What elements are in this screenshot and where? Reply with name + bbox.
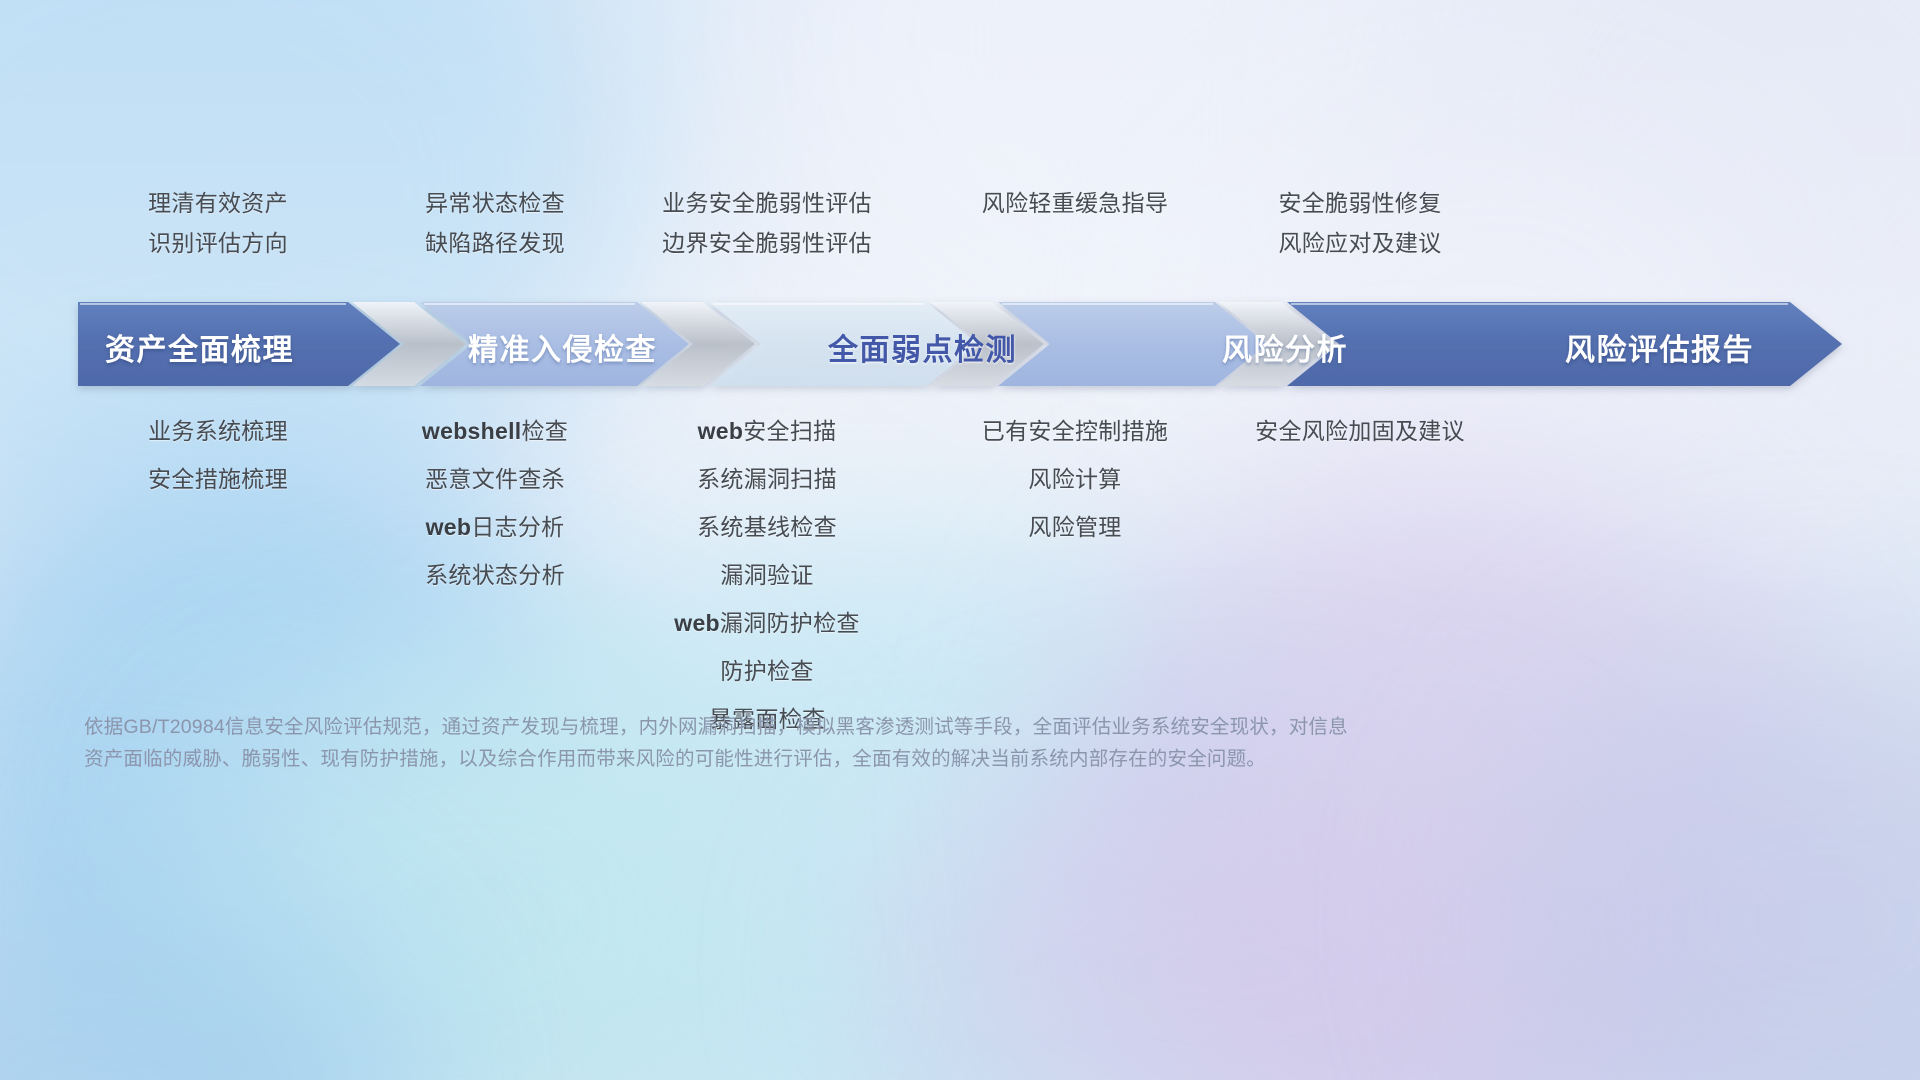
stage-2-bottom-item: 恶意文件查杀: [355, 468, 635, 491]
stage-3-bottom-list: web安全扫描 系统漏洞扫描 系统基线检查 漏洞验证 web漏洞防护检查 防护检…: [622, 420, 912, 731]
stage-3-top-item: 边界安全脆弱性评估: [622, 232, 912, 255]
diagram-stage-layer: 理清有效资产 识别评估方向 业务系统梳理 安全措施梳理 异常状态检查 缺陷路径发…: [0, 0, 1920, 1080]
stage-column-2: 异常状态检查 缺陷路径发现: [355, 192, 635, 255]
stage-1-bottom-item: 安全措施梳理: [78, 468, 358, 491]
stage-1-bottom-item: 业务系统梳理: [78, 420, 358, 443]
stage-5-bottom-list: 安全风险加固及建议: [1215, 420, 1505, 443]
stage-2-bottom-item-tail: 检查: [521, 418, 568, 444]
stage-3-bottom-item: web安全扫描: [622, 420, 912, 443]
stage-5-top-item: 风险应对及建议: [1215, 232, 1505, 255]
stage-column-2-bottom: webshell检查 恶意文件查杀 web日志分析 系统状态分析: [355, 420, 635, 587]
kw-webshell: webshell: [422, 418, 522, 444]
stage-5-top-item: 安全脆弱性修复: [1215, 192, 1505, 215]
stage-4-bottom-item: 风险计算: [930, 468, 1220, 491]
stage-5-bottom-item: 安全风险加固及建议: [1215, 420, 1505, 443]
kw-web: web: [674, 610, 720, 636]
stage-column-1: 理清有效资产 识别评估方向: [78, 192, 358, 255]
stage-4-bottom-list: 已有安全控制措施 风险计算 风险管理: [930, 420, 1220, 539]
chevron-label-5[interactable]: 风险评估报告: [1565, 325, 1754, 369]
stage-1-top-item: 识别评估方向: [78, 232, 358, 255]
stage-2-top-item: 缺陷路径发现: [355, 232, 635, 255]
footer-description: 依据GB/T20984信息安全风险评估规范，通过资产发现与梳理，内外网漏洞扫描，…: [84, 712, 1324, 775]
stage-2-top-item: 异常状态检查: [355, 192, 635, 215]
stage-3-bottom-item: 漏洞验证: [622, 564, 912, 587]
stage-2-bottom-list: webshell检查 恶意文件查杀 web日志分析 系统状态分析: [355, 420, 635, 587]
chevron-label-2[interactable]: 精准入侵检查: [468, 325, 657, 369]
stage-3-bottom-item-tail: 漏洞防护检查: [720, 610, 860, 636]
kw-web: web: [426, 514, 472, 540]
stage-3-bottom-item: 系统漏洞扫描: [622, 468, 912, 491]
stage-5-top-list: 安全脆弱性修复 风险应对及建议: [1215, 192, 1505, 255]
kw-web: web: [698, 418, 744, 444]
stage-column-5: 安全脆弱性修复 风险应对及建议: [1215, 192, 1505, 255]
stage-column-5-bottom: 安全风险加固及建议: [1215, 420, 1505, 443]
stage-3-top-list: 业务安全脆弱性评估 边界安全脆弱性评估: [622, 192, 912, 255]
stage-column-1-bottom: 业务系统梳理 安全措施梳理: [78, 420, 358, 491]
stage-3-bottom-item: 防护检查: [622, 660, 912, 683]
stage-4-top-list: 风险轻重缓急指导: [930, 192, 1220, 215]
stage-column-4: 风险轻重缓急指导: [930, 192, 1220, 215]
footer-line-2: 资产面临的威胁、脆弱性、现有防护措施，以及综合作用而带来风险的可能性进行评估，全…: [84, 744, 1324, 776]
stage-2-bottom-item: web日志分析: [355, 516, 635, 539]
stage-column-3-bottom: web安全扫描 系统漏洞扫描 系统基线检查 漏洞验证 web漏洞防护检查 防护检…: [622, 420, 912, 731]
stage-1-top-list: 理清有效资产 识别评估方向: [78, 192, 358, 255]
stage-1-top-item: 理清有效资产: [78, 192, 358, 215]
stage-3-bottom-item: web漏洞防护检查: [622, 612, 912, 635]
stage-3-bottom-item: 系统基线检查: [622, 516, 912, 539]
stage-2-bottom-item: webshell检查: [355, 420, 635, 443]
footer-line-1: 依据GB/T20984信息安全风险评估规范，通过资产发现与梳理，内外网漏洞扫描，…: [84, 712, 1324, 744]
stage-2-bottom-item: 系统状态分析: [355, 564, 635, 587]
stage-4-bottom-item: 已有安全控制措施: [930, 420, 1220, 443]
chevron-label-3[interactable]: 全面弱点检测: [828, 325, 1017, 369]
stage-column-4-bottom: 已有安全控制措施 风险计算 风险管理: [930, 420, 1220, 539]
stage-3-bottom-item-tail: 安全扫描: [743, 418, 836, 444]
chevron-label-4[interactable]: 风险分析: [1222, 325, 1348, 369]
stage-2-bottom-item-tail: 日志分析: [471, 514, 564, 540]
chevron-label-1[interactable]: 资产全面梳理: [105, 325, 294, 369]
stage-3-top-item: 业务安全脆弱性评估: [622, 192, 912, 215]
stage-2-top-list: 异常状态检查 缺陷路径发现: [355, 192, 635, 255]
stage-1-bottom-list: 业务系统梳理 安全措施梳理: [78, 420, 358, 491]
stage-column-3: 业务安全脆弱性评估 边界安全脆弱性评估: [622, 192, 912, 255]
stage-4-bottom-item: 风险管理: [930, 516, 1220, 539]
stage-4-top-item: 风险轻重缓急指导: [930, 192, 1220, 215]
